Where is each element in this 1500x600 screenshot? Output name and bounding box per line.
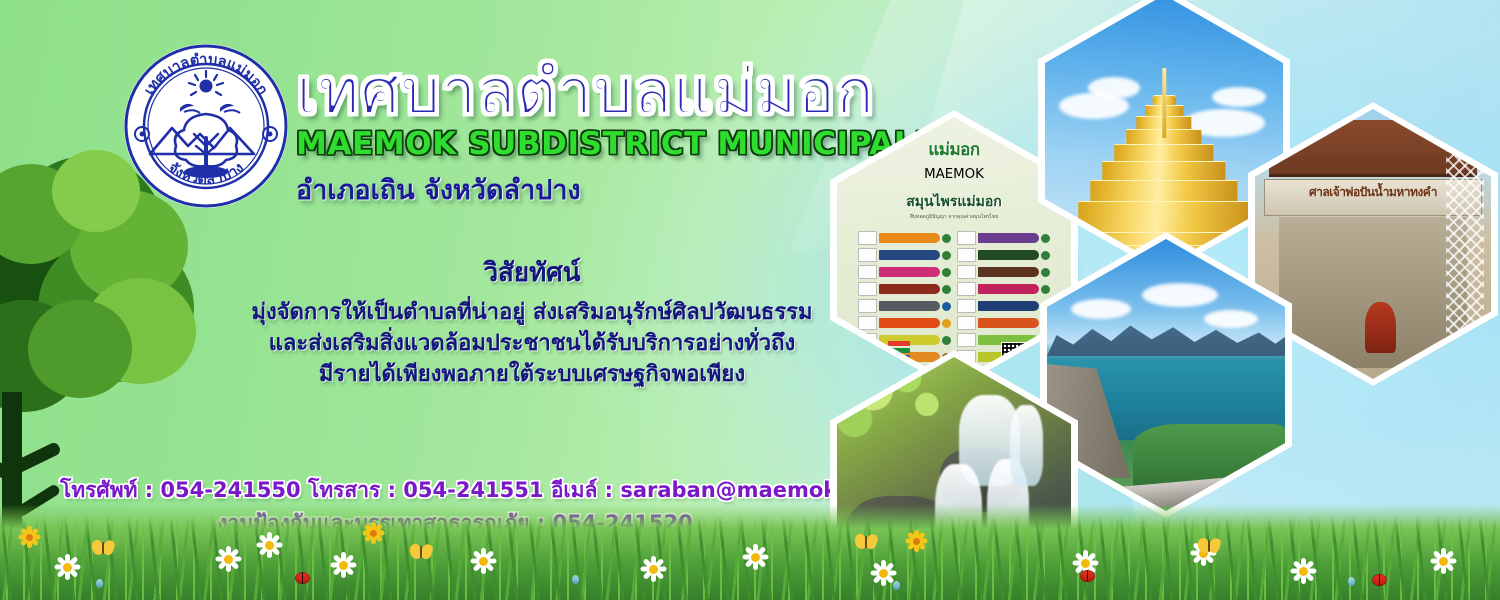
vision-block: วิสัยทัศน์ มุ่งจัดการให้เป็นตำบลที่น่าอย… [232,252,832,391]
hexagon-photo-collage: แม่มอก MAEMOK สมุนไพรแม่มอก สืบทอดภูมิปั… [790,0,1500,582]
daisy-flower [1290,558,1316,584]
municipality-banner: เทศบาลตำบลแม่มอก จังหวัดลำปาง เทศบาลตำบล… [0,0,1500,600]
daisy-flower [215,546,241,572]
daisy-flower [256,532,282,558]
ladybug [1372,574,1387,586]
daisy-flower [1430,548,1456,574]
maemok-municipal-seal: เทศบาลตำบลแม่มอก จังหวัดลำปาง [122,42,290,210]
herbal-item [858,265,951,279]
herbal-brand-logo: แม่มอก MAEMOK [924,136,984,182]
butterfly [1198,538,1220,554]
butterfly [855,534,877,550]
yellow-flower [18,526,40,548]
vision-line-2: และส่งเสริมสิ่งแวดล้อมประชาชนได้รับบริกา… [232,328,832,359]
monk-statue [1365,302,1395,353]
ladybug [1080,570,1095,582]
herbal-item [858,316,951,330]
daisy-flower [330,552,356,578]
dew-drop [572,575,579,584]
herbal-item [957,231,1050,245]
dew-drop [1348,577,1355,586]
vision-line-1: มุ่งจัดการให้เป็นตำบลที่น่าอยู่ ส่งเสริม… [232,297,832,328]
herbal-item [957,316,1050,330]
yellow-flower [905,530,927,552]
yellow-flower [362,522,384,544]
dew-drop [96,579,103,588]
dew-drop [893,581,900,590]
herbal-item [957,265,1050,279]
herbal-brand-latin: MAEMOK [924,167,984,182]
herbal-product-grid [858,231,1050,337]
herbal-item [858,248,951,262]
herbal-brand-name: แม่มอก [924,136,984,163]
herbal-item [858,231,951,245]
vision-heading: วิสัยทัศน์ [232,252,832,293]
daisy-flower [640,556,666,582]
herbal-item [858,299,951,313]
daisy-flower [742,544,768,570]
herbal-item [957,299,1050,313]
vision-line-3: มีรายได้เพียงพอภายใต้ระบบเศรษฐกิจพอเพียง [232,359,832,390]
herbal-item [858,282,951,296]
contact-line-phone-fax-email[interactable]: โทรศัพท์ : 054-241550 โทรสาร : 054-24155… [60,474,850,507]
daisy-flower [54,554,80,580]
herbal-item [957,282,1050,296]
butterfly [410,544,432,560]
herbal-poster-subtitle: สืบทอดภูมิปัญญา จากคุณค่าสมุนไพรไทย [837,213,1071,221]
grass-footer [0,504,1500,600]
herbal-item [957,248,1050,262]
daisy-flower [870,560,896,586]
butterfly [92,540,114,556]
ladybug [295,572,310,584]
daisy-flower [470,548,496,574]
herbal-poster-caption: สมุนไพรแม่มอก [837,191,1071,213]
